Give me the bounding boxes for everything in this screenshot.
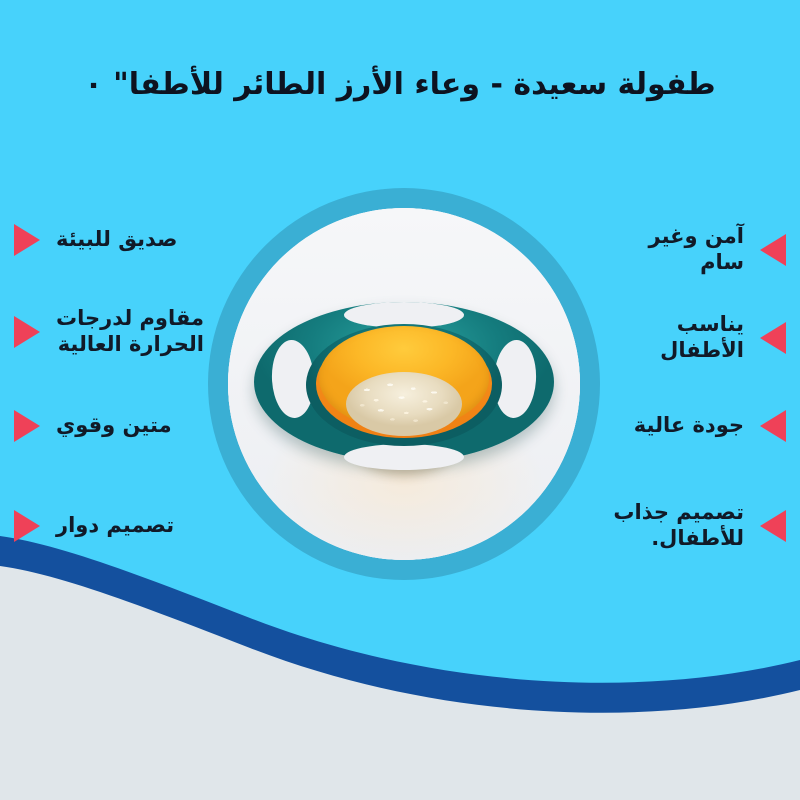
triangle-left-icon bbox=[760, 410, 786, 442]
feature-right-4: تصميم جذاب للأطفال. bbox=[586, 500, 786, 551]
rice-pile bbox=[346, 372, 462, 436]
product-image bbox=[208, 188, 600, 580]
gimbal-slot-bottom bbox=[344, 444, 464, 470]
feature-left-3-label: متين وقوي bbox=[56, 413, 172, 439]
gyro-bowl-assembly bbox=[254, 296, 554, 486]
product-feature-poster: طفولة سعيدة - وعاء الأرز الطائر للأطفا" … bbox=[0, 0, 800, 800]
feature-right-4-label: تصميم جذاب للأطفال. bbox=[613, 500, 744, 551]
feature-right-2: يناسب الأطفال bbox=[586, 312, 786, 363]
triangle-right-icon bbox=[14, 510, 40, 542]
product-photo bbox=[228, 208, 580, 560]
feature-left-2-label: مقاوم لدرجات الحرارة العالية bbox=[56, 306, 204, 357]
feature-left-2: مقاوم لدرجات الحرارة العالية bbox=[14, 306, 214, 357]
triangle-left-icon bbox=[760, 510, 786, 542]
feature-right-3-label: جودة عالية bbox=[634, 413, 744, 439]
triangle-left-icon bbox=[760, 322, 786, 354]
triangle-right-icon bbox=[14, 410, 40, 442]
feature-right-3: جودة عالية bbox=[586, 410, 786, 442]
feature-left-4: تصميم دوار bbox=[14, 510, 214, 542]
feature-right-2-label: يناسب الأطفال bbox=[660, 312, 744, 363]
feature-left-1: صديق للبيئة bbox=[14, 224, 214, 256]
triangle-left-icon bbox=[760, 234, 786, 266]
feature-right-1: آمن وغير سام bbox=[586, 224, 786, 275]
feature-left-3: متين وقوي bbox=[14, 410, 214, 442]
page-title: طفولة سعيدة - وعاء الأرز الطائر للأطفا" … bbox=[0, 68, 800, 103]
triangle-right-icon bbox=[14, 316, 40, 348]
rice-grains-texture bbox=[346, 372, 462, 436]
triangle-right-icon bbox=[14, 224, 40, 256]
bowl-yellow-inner bbox=[319, 326, 489, 430]
bowl-gimbal-ring bbox=[254, 296, 554, 472]
feature-left-4-label: تصميم دوار bbox=[56, 513, 174, 539]
feature-right-1-label: آمن وغير سام bbox=[649, 224, 744, 275]
feature-left-1-label: صديق للبيئة bbox=[56, 227, 177, 253]
